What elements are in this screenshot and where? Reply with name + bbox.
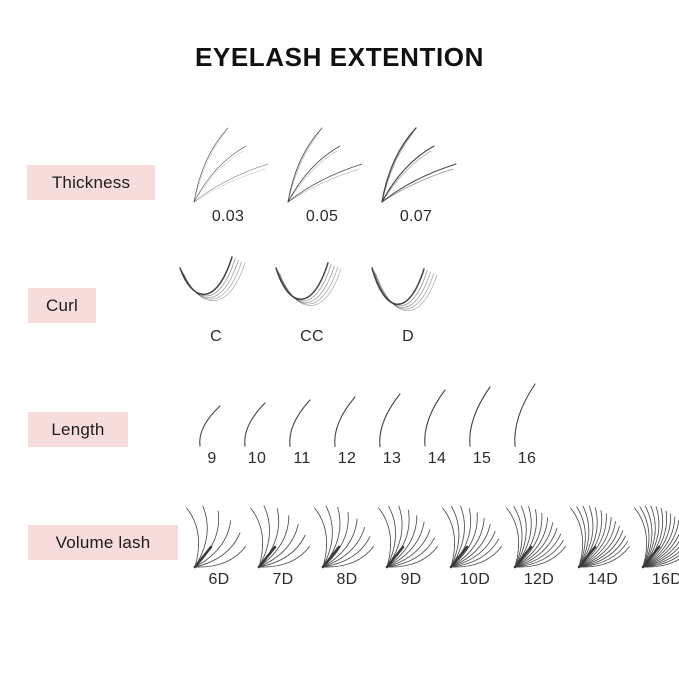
- specimen-strip-volume-lash: 6D7D8D9D10D12D14D16D: [188, 492, 679, 589]
- specimen-caption: 11: [293, 450, 310, 468]
- lash-icon-length-9: [194, 404, 230, 448]
- lash-icon-volume-16d: [636, 492, 679, 570]
- page-title: EYELASH EXTENTION: [0, 42, 679, 73]
- specimen-curl-cc: CC: [272, 250, 352, 346]
- specimen-caption: 0.07: [400, 208, 432, 226]
- specimen-length-14: 14: [419, 388, 455, 468]
- row-thickness: Thickness 0.030.050.07: [0, 112, 679, 237]
- lash-icon-length-14: [419, 388, 455, 448]
- specimen-caption: 12: [338, 450, 356, 468]
- lash-icon-thickness-0.05: [278, 126, 366, 206]
- lash-icon-length-16: [509, 382, 545, 448]
- lash-icon-volume-9d: [380, 492, 442, 570]
- specimen-volume-10d: 10D: [444, 492, 506, 589]
- specimen-volume-6d: 6D: [188, 492, 250, 589]
- specimen-caption: 15: [473, 450, 491, 468]
- specimen-caption: 7D: [272, 571, 293, 589]
- lash-icon-curl-c: [176, 250, 256, 322]
- specimen-volume-12d: 12D: [508, 492, 570, 589]
- lash-icon-volume-14d: [572, 492, 634, 570]
- row-label-curl: Curl: [28, 288, 96, 323]
- specimen-caption: 14: [428, 450, 446, 468]
- specimen-thickness-0.03: 0.03: [184, 126, 272, 226]
- lash-icon-length-10: [239, 401, 275, 448]
- row-label-length: Length: [28, 412, 128, 447]
- specimen-caption: 8D: [336, 571, 357, 589]
- lash-icon-volume-6d: [188, 492, 250, 570]
- lash-icon-length-15: [464, 385, 500, 448]
- specimen-length-16: 16: [509, 382, 545, 468]
- specimen-length-15: 15: [464, 385, 500, 468]
- lash-icon-volume-7d: [252, 492, 314, 570]
- specimen-caption: 9D: [400, 571, 421, 589]
- specimen-caption: 16D: [652, 571, 679, 589]
- eyelash-extension-chart: EYELASH EXTENTION Thickness 0.030.050.07…: [0, 0, 679, 679]
- specimen-strip-thickness: 0.030.050.07: [184, 126, 460, 226]
- row-label-volume-lash-text: Volume lash: [56, 533, 151, 553]
- specimen-thickness-0.07: 0.07: [372, 126, 460, 226]
- row-label-curl-text: Curl: [46, 296, 78, 316]
- specimen-caption: C: [210, 328, 222, 346]
- specimen-length-12: 12: [329, 395, 365, 469]
- specimen-caption: 0.05: [306, 208, 338, 226]
- specimen-caption: 14D: [588, 571, 618, 589]
- row-volume: Volume lash 6D7D8D9D10D12D14D16D: [0, 492, 679, 602]
- specimen-volume-9d: 9D: [380, 492, 442, 589]
- specimen-strip-length: 910111213141516: [194, 382, 545, 468]
- specimen-caption: 13: [383, 450, 401, 468]
- row-label-thickness: Thickness: [27, 165, 155, 200]
- specimen-caption: 0.03: [212, 208, 244, 226]
- lash-icon-length-12: [329, 395, 365, 449]
- specimen-curl-d: D: [368, 250, 448, 346]
- row-length: Length 910111213141516: [0, 382, 679, 477]
- row-label-length-text: Length: [51, 420, 104, 440]
- specimen-strip-curl: CCCD: [176, 250, 448, 346]
- specimen-caption: 6D: [208, 571, 229, 589]
- specimen-caption: 16: [518, 450, 536, 468]
- specimen-length-9: 9: [194, 404, 230, 468]
- specimen-volume-8d: 8D: [316, 492, 378, 589]
- specimen-caption: 9: [207, 450, 216, 468]
- row-label-thickness-text: Thickness: [52, 173, 130, 193]
- specimen-curl-c: C: [176, 250, 256, 346]
- lash-icon-volume-8d: [316, 492, 378, 570]
- row-curl: Curl CCCD: [0, 246, 679, 356]
- row-label-volume-lash: Volume lash: [28, 525, 178, 560]
- specimen-volume-14d: 14D: [572, 492, 634, 589]
- specimen-caption: D: [402, 328, 414, 346]
- lash-icon-volume-12d: [508, 492, 570, 570]
- specimen-length-11: 11: [284, 398, 320, 468]
- lash-icon-curl-cc: [272, 250, 352, 322]
- lash-icon-thickness-0.07: [372, 126, 460, 206]
- specimen-caption: CC: [300, 328, 324, 346]
- specimen-caption: 12D: [524, 571, 554, 589]
- specimen-length-13: 13: [374, 392, 410, 469]
- specimen-caption: 10: [248, 450, 266, 468]
- lash-icon-length-13: [374, 392, 410, 449]
- lash-icon-thickness-0.03: [184, 126, 272, 206]
- specimen-thickness-0.05: 0.05: [278, 126, 366, 226]
- lash-icon-curl-d: [368, 250, 448, 322]
- lash-icon-length-11: [284, 398, 320, 448]
- specimen-caption: 10D: [460, 571, 490, 589]
- specimen-volume-16d: 16D: [636, 492, 679, 589]
- specimen-length-10: 10: [239, 401, 275, 468]
- lash-icon-volume-10d: [444, 492, 506, 570]
- specimen-volume-7d: 7D: [252, 492, 314, 589]
